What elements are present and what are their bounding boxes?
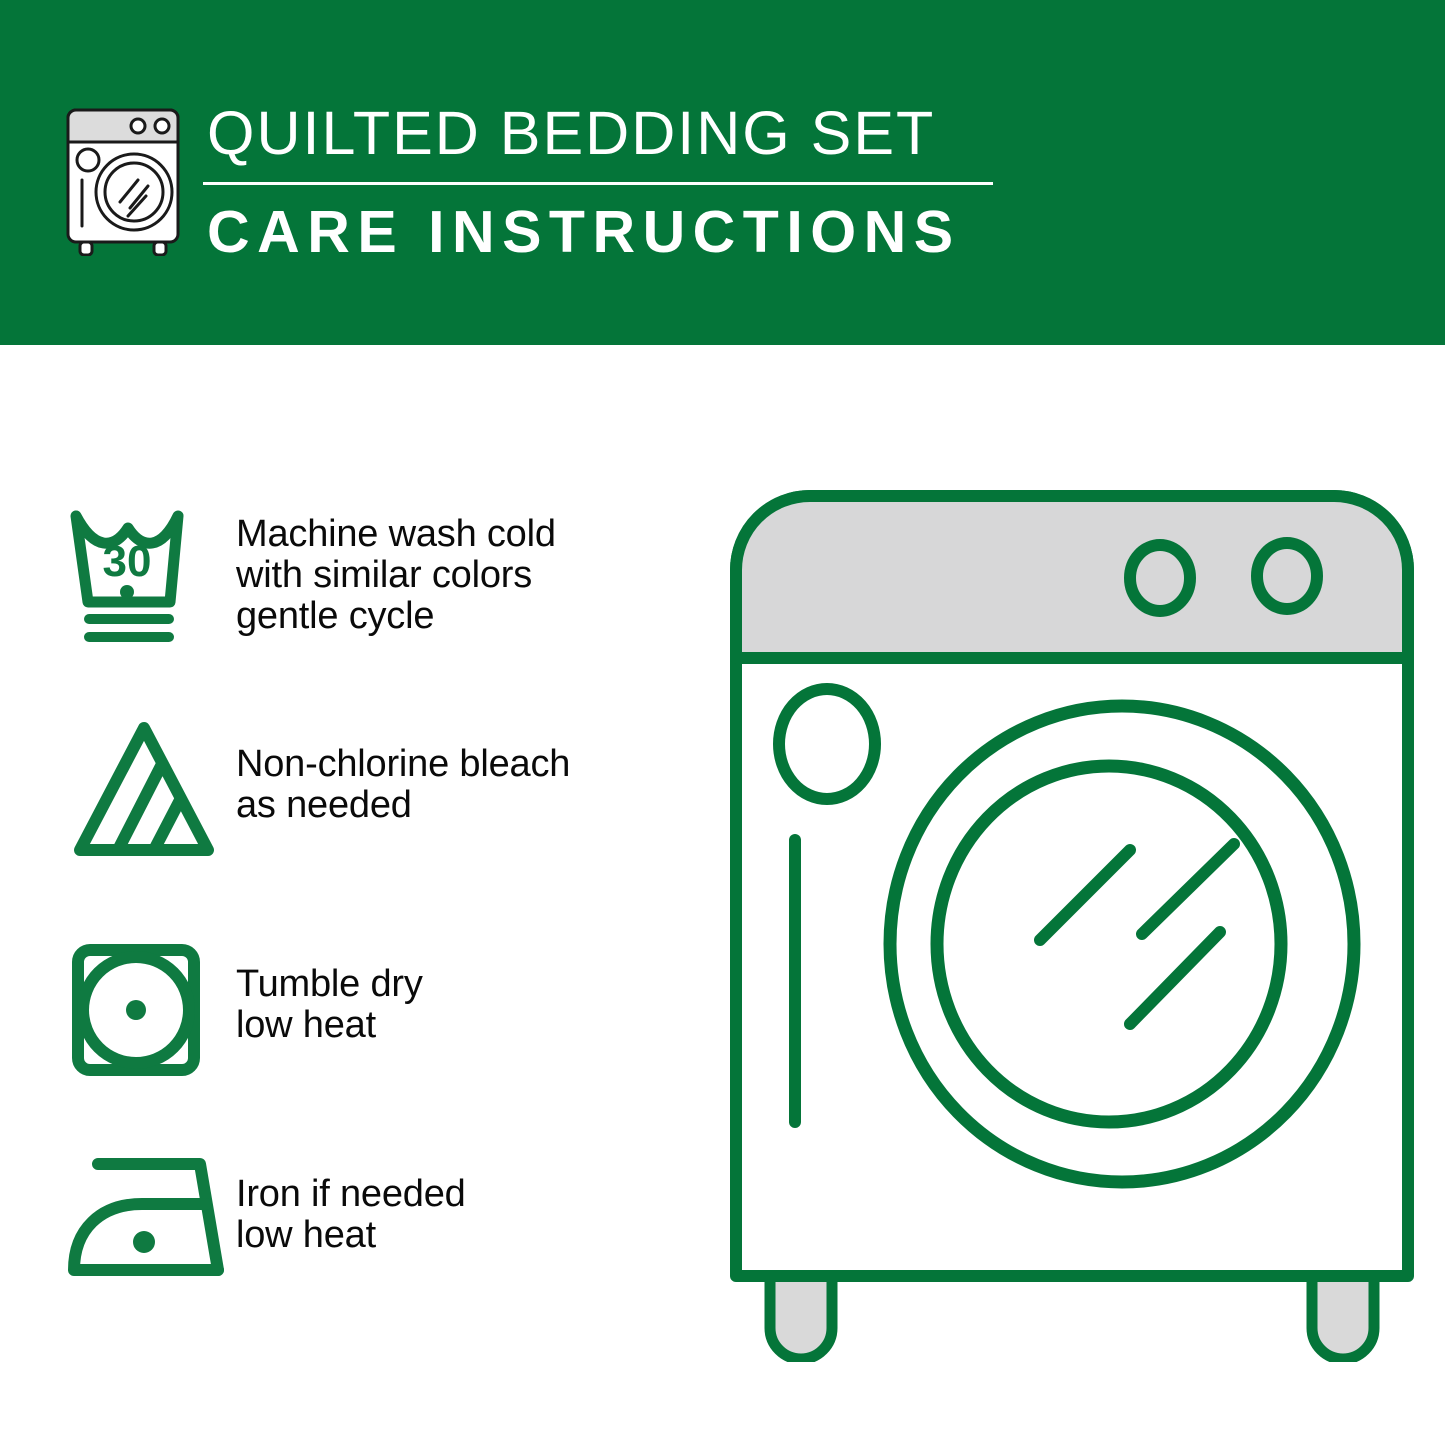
front-load-washing-machine-illustration: [722, 482, 1422, 1362]
care-instructions-page: QUILTED BEDDING SET CARE INSTRUCTIONS 30: [0, 0, 1445, 1445]
care-text-iron: Iron if needed low heat: [236, 1152, 686, 1256]
detergent-drawer: [779, 689, 875, 799]
header-text-block: QUILTED BEDDING SET CARE INSTRUCTIONS: [203, 98, 993, 265]
leg-right: [1312, 1272, 1374, 1359]
tumble-dry-low-icon: [66, 940, 236, 1080]
page-subtitle: CARE INSTRUCTIONS: [203, 199, 993, 265]
page-title: QUILTED BEDDING SET: [203, 98, 993, 168]
wash-temperature-label: 30: [103, 537, 152, 586]
care-text-bleach: Non-chlorine bleach as needed: [236, 718, 686, 826]
machine-wash-30-gentle-icon: 30: [66, 498, 236, 650]
care-text-tumble-dry: Tumble dry low heat: [236, 940, 686, 1046]
care-row-iron: Iron if needed low heat: [66, 1152, 686, 1282]
knob-left: [1130, 545, 1190, 611]
care-text-machine-wash: Machine wash cold with similar colors ge…: [236, 498, 686, 637]
title-divider: [203, 182, 993, 185]
iron-low-heat-icon: [66, 1152, 236, 1282]
care-row-tumble-dry: Tumble dry low heat: [66, 940, 686, 1080]
header-banner: QUILTED BEDDING SET CARE INSTRUCTIONS: [0, 0, 1445, 345]
care-row-machine-wash: 30 Machine wash cold with similar colors…: [66, 498, 686, 650]
care-row-bleach: Non-chlorine bleach as needed: [66, 718, 686, 868]
knob-right: [1257, 543, 1317, 609]
washing-machine-icon: [62, 104, 190, 256]
door-inner-ring: [937, 766, 1281, 1122]
leg-left: [770, 1272, 832, 1359]
non-chlorine-bleach-icon: [66, 718, 236, 868]
